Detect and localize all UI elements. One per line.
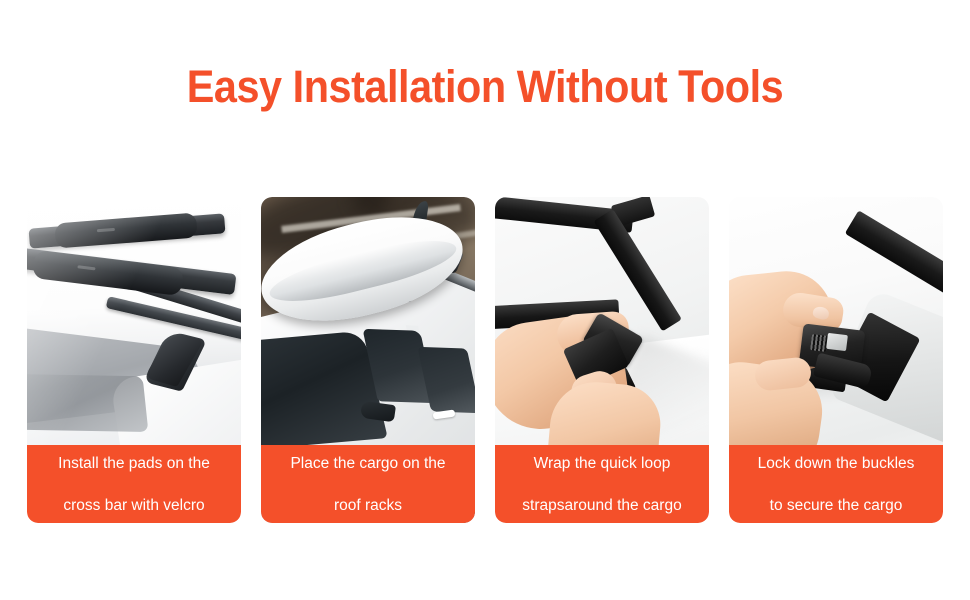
step-caption-3: Wrap the quick loop strapsaround the car… (495, 445, 709, 523)
step-caption-1-line1: Install the pads on the (58, 453, 210, 474)
step-caption-2: Place the cargo on the roof racks (261, 445, 475, 523)
step-card-4[interactable]: Lock down the buckles to secure the carg… (729, 197, 943, 523)
step-caption-4-line1: Lock down the buckles (758, 453, 915, 474)
step-caption-2-line2: roof racks (290, 495, 445, 516)
cam-buckle-plate-shape (826, 333, 848, 351)
step-card-3[interactable]: Wrap the quick loop strapsaround the car… (495, 197, 709, 523)
step-caption-4: Lock down the buckles to secure the carg… (729, 445, 943, 523)
step-caption-3-line1: Wrap the quick loop (522, 453, 681, 474)
steps-gallery: Install the pads on the cross bar with v… (27, 197, 943, 523)
step-card-2[interactable]: Place the cargo on the roof racks (261, 197, 475, 523)
step-card-1[interactable]: Install the pads on the cross bar with v… (27, 197, 241, 523)
step-caption-3-line2: strapsaround the cargo (522, 495, 681, 516)
step-caption-1: Install the pads on the cross bar with v… (27, 445, 241, 523)
page-title: Easy Installation Without Tools (39, 62, 931, 112)
installation-steps-infographic: Easy Installation Without Tools (0, 0, 970, 600)
step-caption-1-line2: cross bar with velcro (58, 495, 210, 516)
step-caption-2-line1: Place the cargo on the (290, 453, 445, 474)
step-caption-4-line2: to secure the cargo (758, 495, 915, 516)
cam-buckle-teeth-shape (810, 334, 828, 352)
